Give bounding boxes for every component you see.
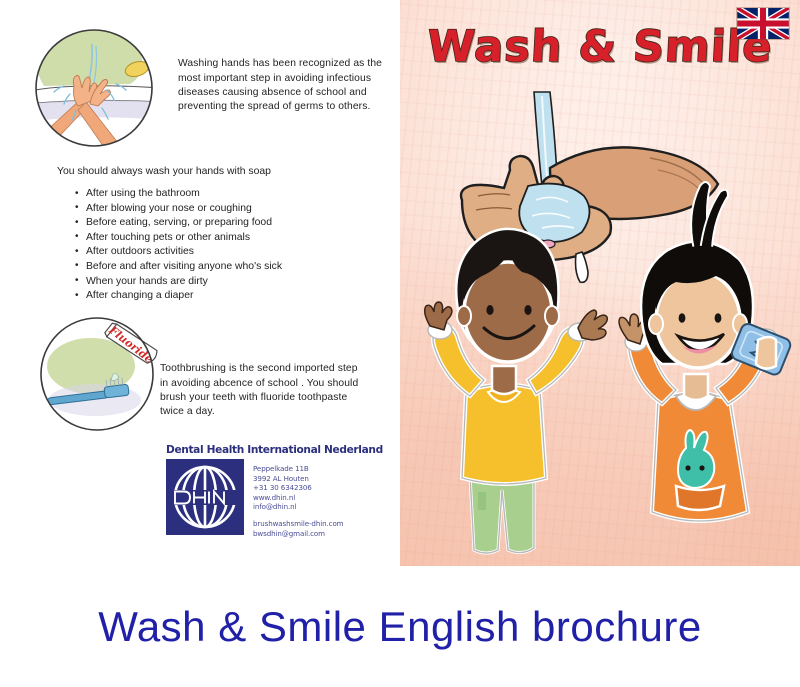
list-item: Before and after visiting anyone who's s…	[75, 260, 377, 275]
spacer	[253, 512, 344, 519]
caption-bar: Wash & Smile English brochure	[0, 566, 800, 687]
soap-list: After using the bathroom After blowing y…	[57, 187, 377, 304]
hands-under-running-water-icon	[30, 24, 158, 152]
contact-line: Peppelkade 11B	[253, 464, 344, 474]
toothbrush-and-toothpaste-icon: Fluoride	[35, 308, 163, 436]
list-item: After touching pets or other animals	[75, 231, 377, 246]
brochure-left-panel: Washing hands has been recognized as the…	[0, 0, 400, 566]
dhin-globe-logo-icon	[166, 459, 244, 535]
contact-email[interactable]: info@dhin.nl	[253, 502, 344, 512]
poster-artwork	[400, 0, 800, 566]
list-item: After changing a diaper	[75, 289, 377, 304]
caption-text: Wash & Smile English brochure	[98, 603, 702, 651]
list-item: After blowing your nose or coughing	[75, 202, 377, 217]
dhin-organisation-name: Dental Health International Nederland	[166, 444, 381, 456]
united-kingdom-flag-icon	[736, 7, 790, 40]
list-item: When your hands are dirty	[75, 275, 377, 290]
brush-paragraph: Toothbrushing is the second imported ste…	[160, 362, 360, 419]
brochure-preview-page: Washing hands has been recognized as the…	[0, 0, 800, 687]
poster-panel: Wash & Smile	[400, 0, 800, 566]
list-item: After outdoors activities	[75, 245, 377, 260]
contact-website[interactable]: www.dhin.nl	[253, 493, 344, 503]
dhin-logo-block: Dental Health International Nederland	[166, 444, 381, 538]
soap-list-block: You should always wash your hands with s…	[57, 165, 377, 304]
contact-line: +31 30 6342306	[253, 483, 344, 493]
contact-line: 3992 AL Houten	[253, 474, 344, 484]
contact-website-secondary[interactable]: brushwashsmile-dhin.com	[253, 519, 344, 529]
list-item: Before eating, serving, or preparing foo…	[75, 216, 377, 231]
wash-paragraph: Washing hands has been recognized as the…	[178, 57, 383, 114]
wash-illustration-row	[30, 24, 158, 152]
brush-illustration-row: Fluoride	[35, 308, 163, 436]
dhin-contact-details: Peppelkade 11B 3992 AL Houten +31 30 634…	[253, 459, 344, 538]
girl-with-orange-dress-illustration	[619, 182, 792, 521]
soap-list-heading: You should always wash your hands with s…	[57, 165, 377, 179]
contact-email-secondary[interactable]: bwsdhin@gmail.com	[253, 529, 344, 539]
list-item: After using the bathroom	[75, 187, 377, 202]
